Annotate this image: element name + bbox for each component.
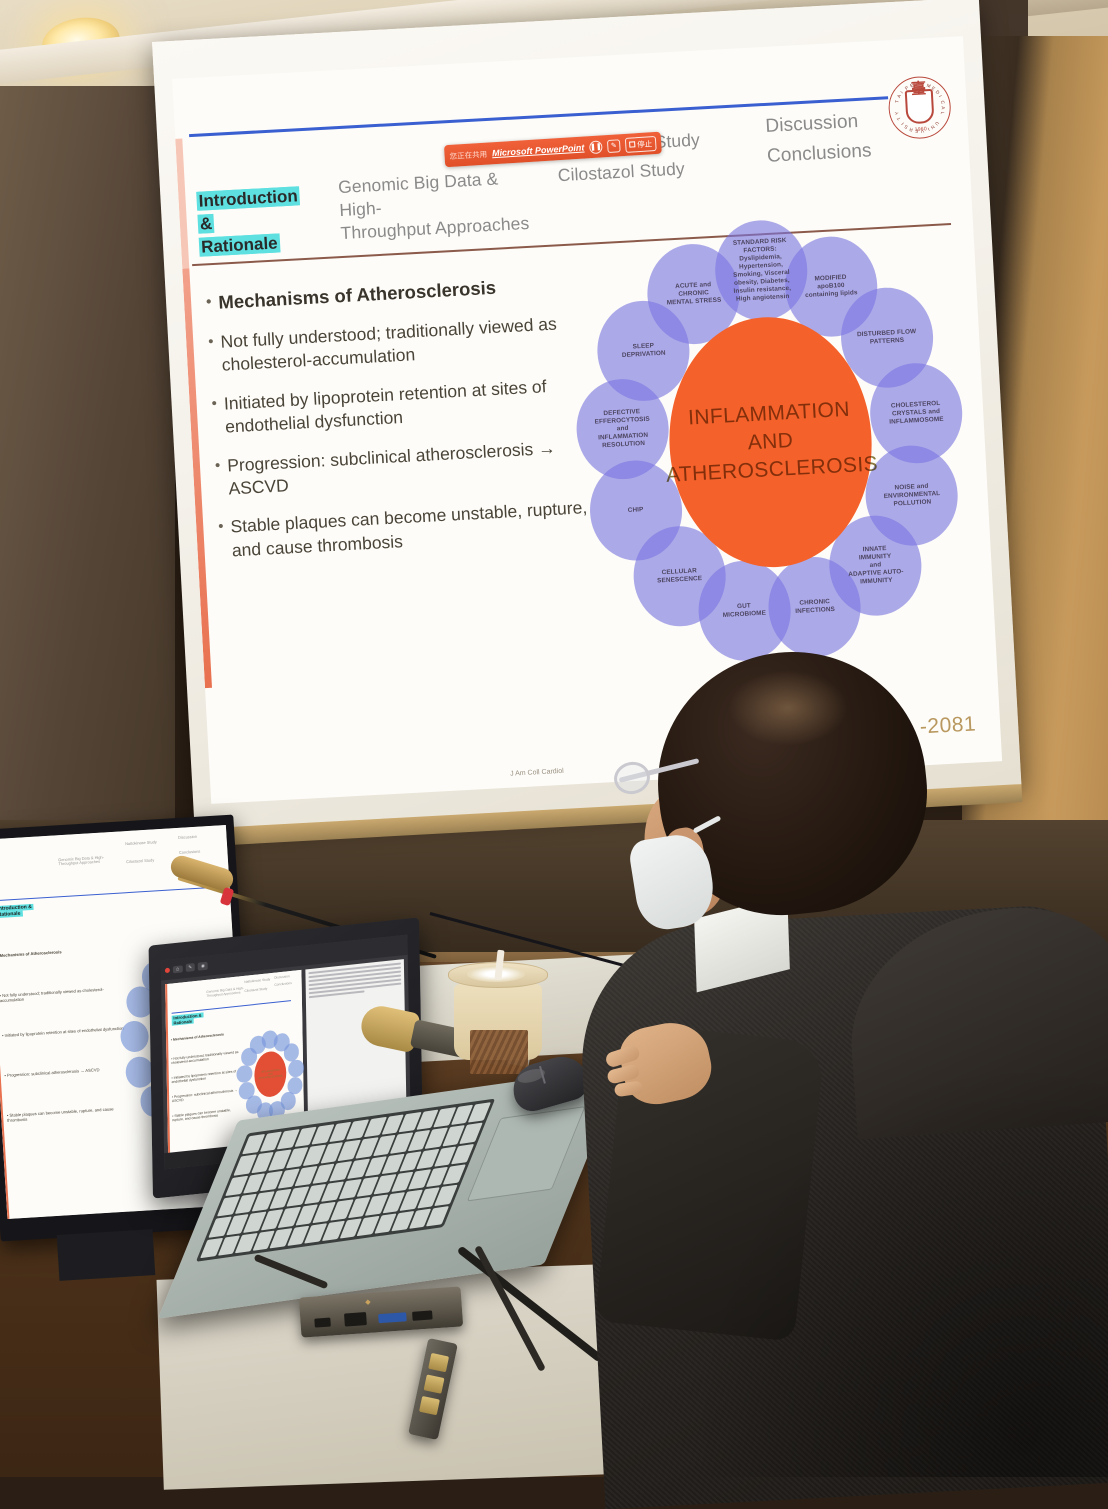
slide-bullet-text: Stable plaques can become unstable, rupt… [230, 495, 610, 562]
laptop-keyboard[interactable] [196, 1099, 495, 1262]
diagram-lobe-label: DEFECTIVE EFFEROCYTOSIS and INFLAMMATION… [592, 406, 653, 453]
diagram-lobe-label: ACUTE and CHRONIC MENTAL STRESS [664, 278, 724, 309]
cup-body [454, 984, 542, 1060]
mini-tab: Conclusions [274, 982, 292, 988]
mini-lobe [120, 1020, 150, 1053]
mini-tab: Cilostazol Study [244, 987, 267, 993]
dock-port-usbc[interactable] [314, 1318, 331, 1328]
diagram-lobe-label: SLEEP DEPRIVATION [619, 340, 668, 362]
slide-bullet-2: •Initiated by lipoprotein retention at s… [211, 372, 603, 440]
diagram-lobe-label: CHOLESTEROL CRYSTALS and INFLAMMOSOME [886, 398, 946, 429]
bullet-dot-icon: • [206, 291, 213, 316]
share-annotate-icon[interactable]: ✎ [607, 139, 621, 153]
inflammation-atherosclerosis-diagram: ACUTE and CHRONIC MENTAL STRESSSLEEP DEP… [574, 229, 966, 668]
slide-tab-introduction-active[interactable]: Introduction &Rationale [192, 184, 316, 261]
mini-bullet: • Stable plaques can become unstable, ru… [172, 1106, 243, 1122]
diagram-lobe-label: CELLULAR SENESCENCE [654, 565, 704, 587]
clicker-button-up[interactable] [428, 1353, 449, 1372]
presenter-chip-timer[interactable]: ⏱ [173, 965, 183, 973]
diagram-lobe-label: INNATE IMMUNITY and ADAPTIVE AUTO- IMMUN… [845, 542, 907, 589]
mini-tab: Nattokinase Study [125, 841, 157, 848]
mini-tab: Nattokinase Study [244, 979, 270, 986]
monitor-stand [57, 1229, 156, 1281]
clicker-button-center[interactable] [424, 1374, 445, 1393]
eyeglasses-lens [611, 759, 653, 798]
dock-logo-icon: ◆ [365, 1298, 371, 1306]
clicker-button-down[interactable] [419, 1396, 440, 1415]
diagram-core-label: INFLAMMATION AND ATHEROSCLEROSIS [662, 395, 878, 490]
mini-tab: Cilostazol Study [126, 858, 154, 864]
diagram-lobe-label: CHRONIC INFECTIONS [793, 596, 838, 618]
coffee-cup [452, 962, 544, 1062]
slide-tab-genomic[interactable]: Genomic Big Data & High- Throughput Appr… [338, 165, 547, 244]
mini-bullet: • Stable plaques can become unstable, ru… [7, 1105, 133, 1123]
mini-accent [165, 984, 170, 1165]
wall-left [0, 86, 175, 846]
slide-bullet-4: •Stable plaques can become unstable, rup… [218, 495, 610, 563]
mini-lobe [288, 1059, 304, 1078]
seated-presenter [600, 640, 1108, 1480]
mini-bullet: • Progression: subclinical atheroscleros… [172, 1087, 243, 1103]
slide-bullet-text: Not fully understood; traditionally view… [220, 310, 600, 377]
bullet-dot-icon: • [214, 454, 222, 501]
mini-bullet: • Initiated by lipoprotein retention at … [2, 1025, 128, 1038]
slide-tab-introduction-label: Introduction &Rationale [196, 186, 300, 256]
slide-bullet-list: •Mechanisms of Atherosclerosis•Not fully… [206, 270, 611, 578]
diagram-lobe-label: MODIFIED apoB100 containing lipids [802, 271, 860, 302]
mini-bullet: • Mechanisms of Atherosclerosis [171, 1030, 242, 1042]
mini-lobe [237, 1064, 253, 1083]
mini-tab: Genomic Big Data & High- Throughput Appr… [58, 855, 104, 867]
mini-tab: Genomic Big Data & High- Throughput Appr… [206, 987, 244, 999]
slide-bullet-3: •Progression: subclinical atherosclerosi… [214, 434, 606, 502]
share-pause-icon[interactable]: ❚❚ [589, 140, 603, 154]
mini-bullet: • Not fully understood; traditionally vi… [0, 985, 126, 1003]
mini-bullet: • Mechanisms of Atherosclerosis [0, 946, 123, 959]
mini-lobe [250, 1035, 266, 1054]
diagram-lobe-label: STANDARD RISK FACTORS: Dyslipidemia, Hyp… [729, 235, 794, 306]
mini-bullet: • Not fully understood; traditionally vi… [171, 1049, 242, 1065]
mini-bullet: • Progression: subclinical atheroscleros… [4, 1065, 130, 1078]
mini-tab: Conclusions [179, 849, 201, 855]
slide-bullet-0: •Mechanisms of Atherosclerosis [206, 270, 597, 316]
slide-tab-discussion[interactable]: Discussion [765, 106, 926, 139]
diagram-lobe-label: NOISE and ENVIRONMENTAL POLLUTION [881, 480, 943, 511]
slide-bullet-text: Progression: subclinical atherosclerosis… [227, 434, 607, 501]
dock-port-ethernet[interactable] [344, 1312, 367, 1327]
hair-highlight [728, 670, 848, 746]
bullet-dot-icon: • [218, 516, 226, 563]
mini-rule [171, 1000, 291, 1014]
slide-bullet-text: Mechanisms of Atherosclerosis [218, 276, 497, 316]
presenter-chip-laser[interactable]: ◉ [198, 962, 208, 971]
share-stop-label: 停止 [637, 138, 653, 150]
mini-bullet: • Initiated by lipoprotein retention at … [171, 1068, 242, 1084]
stop-square-icon [629, 141, 635, 147]
mini-accent [0, 840, 10, 1219]
mini-core: INFLAMMATION AND ATHEROSCLEROSIS [254, 1050, 286, 1098]
diagram-lobe-label: CHIP [626, 504, 646, 517]
diagram-lobe-label: GUT MICROBIOME [720, 600, 768, 622]
diagram-lobe-label: DISTURBED FLOW PATTERNS [855, 326, 919, 349]
record-indicator-icon [165, 967, 170, 973]
slide-bullet-text: Initiated by lipoprotein retention at si… [223, 372, 603, 439]
cup-label [470, 1030, 528, 1074]
slide-bullet-1: •Not fully understood; traditionally vie… [208, 310, 600, 378]
mini-rule [0, 887, 207, 901]
dock-port-usb3[interactable] [378, 1312, 407, 1323]
mini-active-tab: Introduction &Rationale [171, 1012, 203, 1026]
conference-room-scene: TAIPEI MEDICAL UNIVERSITY 臺 1960 Genomic… [0, 0, 1108, 1477]
share-stop-button[interactable]: 停止 [625, 135, 657, 152]
share-app-label: Microsoft PowerPoint [492, 143, 585, 159]
share-notice-label: 您正在共用 [449, 148, 487, 161]
bullet-dot-icon: • [208, 331, 216, 378]
slide-citation-small: J Am Coll Cardiol [510, 768, 564, 778]
mini-active-tab: Introduction &Rationale [0, 903, 34, 918]
slide-tab-cilostazol[interactable]: Cilostazol Study [557, 155, 728, 187]
slide-tab-conclusions[interactable]: Conclusions [766, 136, 927, 169]
bullet-dot-icon: • [211, 393, 219, 440]
mini-tab: Discussion [274, 975, 290, 981]
mini-tab: Discussion [178, 834, 197, 840]
presenter-chip-pen[interactable]: ✎ [185, 963, 195, 972]
dock-port-hdmi[interactable] [412, 1310, 433, 1320]
